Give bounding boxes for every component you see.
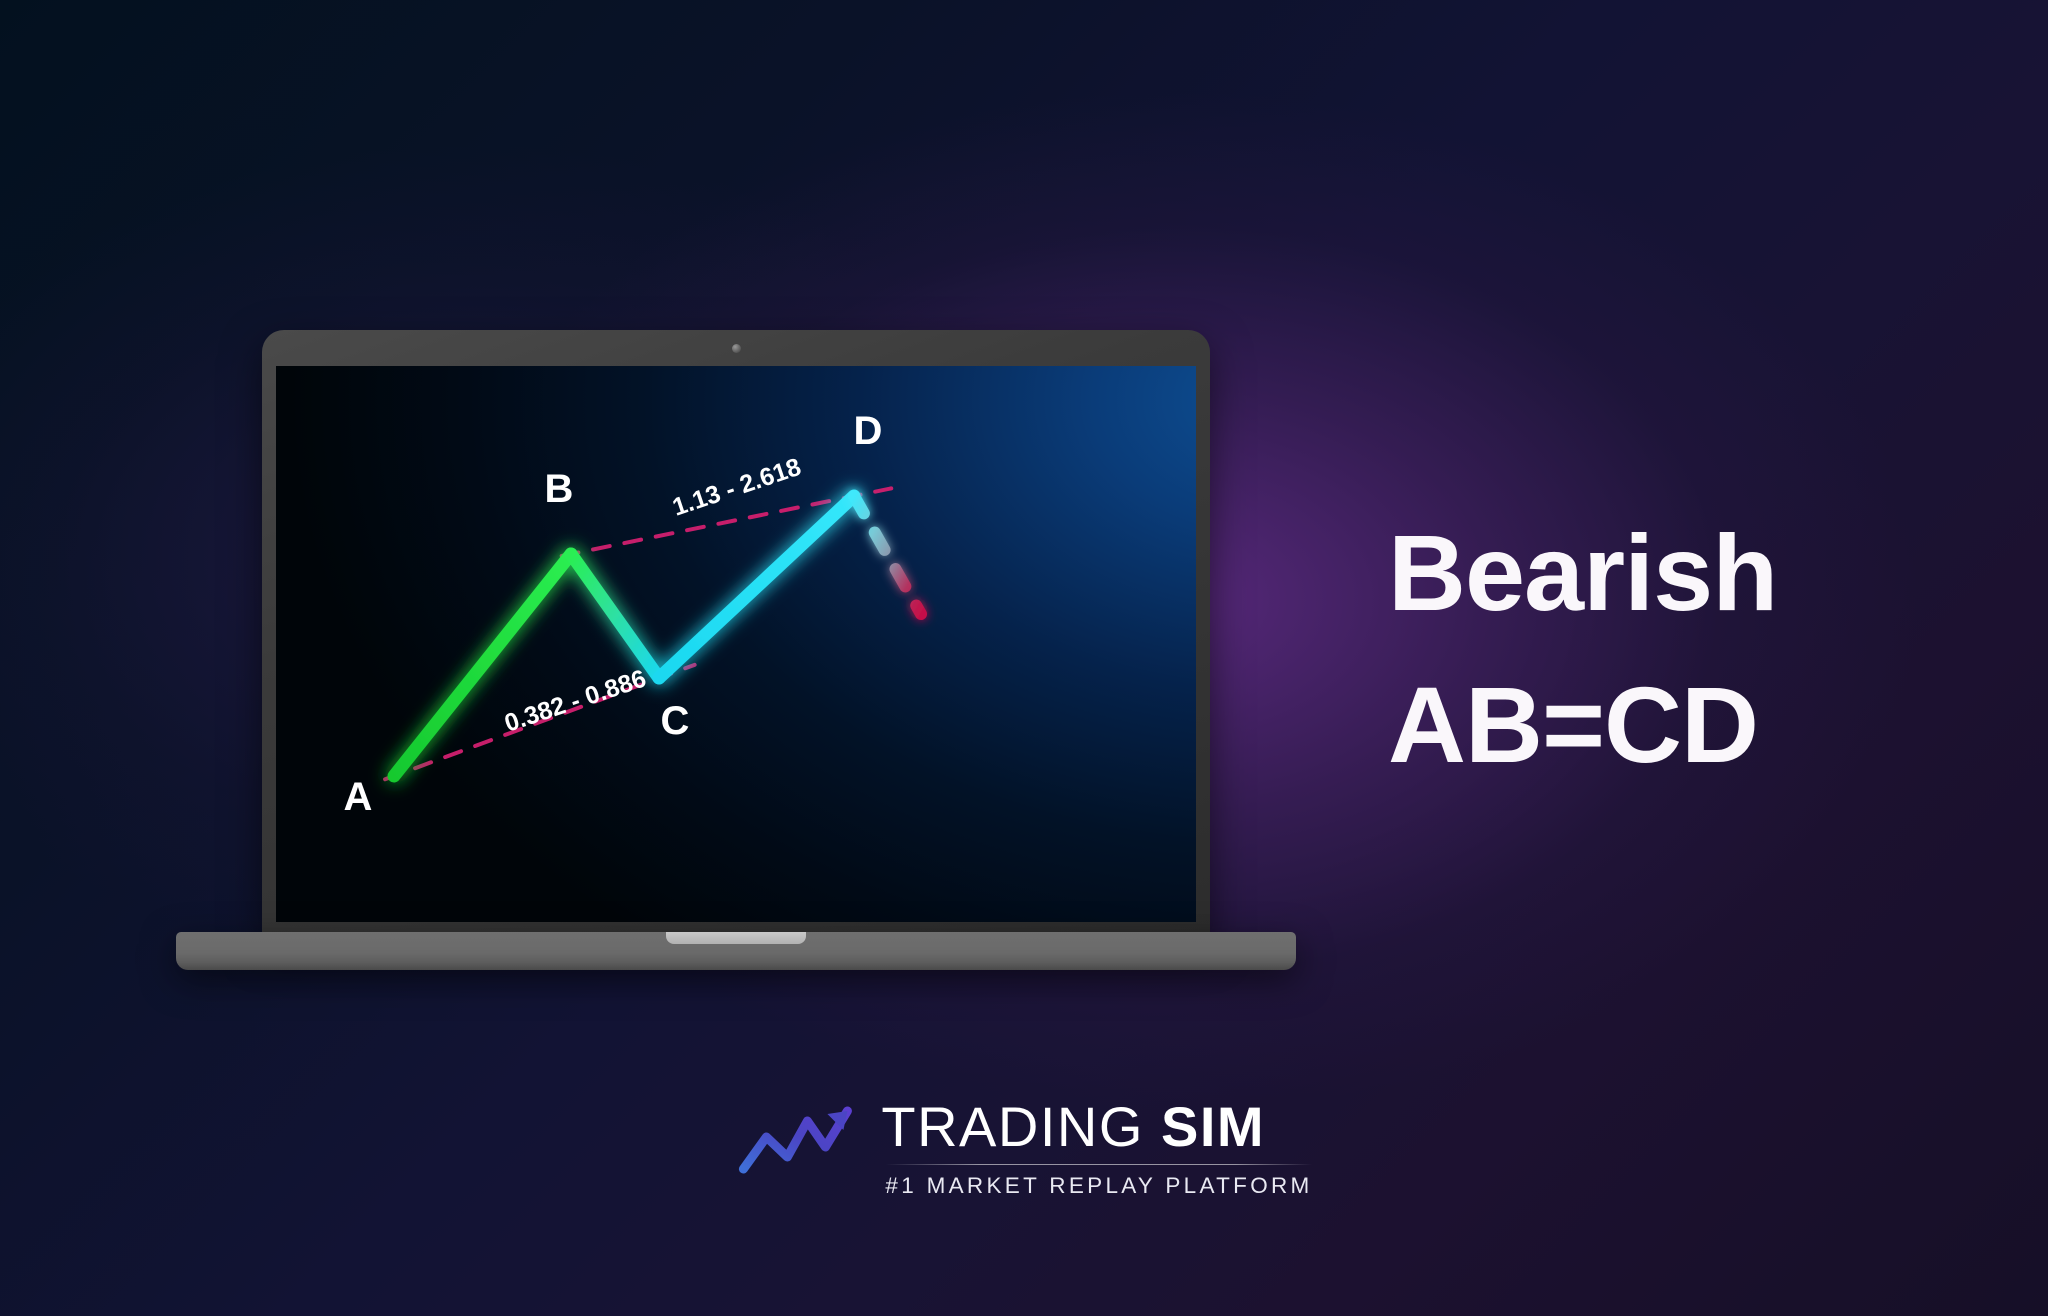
retracement-label-ac: 0.382 - 0.886 <box>501 664 650 737</box>
headline-line-1: Bearish <box>1388 518 1948 628</box>
point-label-c: C <box>661 699 690 743</box>
brand-wordmark: TRADING SIM #1 MARKET REPLAY PLATFORM <box>881 1099 1312 1199</box>
point-label-d: D <box>854 409 883 453</box>
brand-divider <box>885 1164 1312 1165</box>
page-title: Bearish AB=CD <box>1388 518 1948 780</box>
segment-cd <box>659 496 854 678</box>
brand-logo[interactable]: TRADING SIM #1 MARKET REPLAY PLATFORM <box>735 1095 1312 1203</box>
projection-line-group <box>854 496 921 614</box>
laptop-device: 0.382 - 0.886 1.13 - 2.618 A B C D <box>176 330 1296 996</box>
laptop-top-bezel <box>262 330 1210 366</box>
brand-name: TRADING SIM <box>881 1099 1312 1155</box>
brand-tagline: #1 MARKET REPLAY PLATFORM <box>881 1173 1312 1199</box>
poster-canvas: 0.382 - 0.886 1.13 - 2.618 A B C D Beari… <box>0 0 2048 1316</box>
segment-bc <box>571 554 659 678</box>
abcd-pattern-chart: 0.382 - 0.886 1.13 - 2.618 A B C D <box>276 366 1196 922</box>
pattern-polyline <box>394 496 854 776</box>
chart-bars-uptrend-arrow-icon <box>735 1095 863 1203</box>
laptop-screen: 0.382 - 0.886 1.13 - 2.618 A B C D <box>276 366 1196 922</box>
point-label-a: A <box>344 775 373 819</box>
brand-name-bold: SIM <box>1161 1095 1265 1158</box>
brand-name-light: TRADING <box>881 1095 1144 1158</box>
point-label-b: B <box>545 467 574 511</box>
headline-line-2: AB=CD <box>1388 670 1948 780</box>
laptop-base-notch <box>666 932 806 944</box>
laptop-lid: 0.382 - 0.886 1.13 - 2.618 A B C D <box>262 330 1210 936</box>
webcam-dot-icon <box>732 344 741 353</box>
segment-d-projection <box>854 496 921 614</box>
laptop-base <box>176 932 1296 970</box>
